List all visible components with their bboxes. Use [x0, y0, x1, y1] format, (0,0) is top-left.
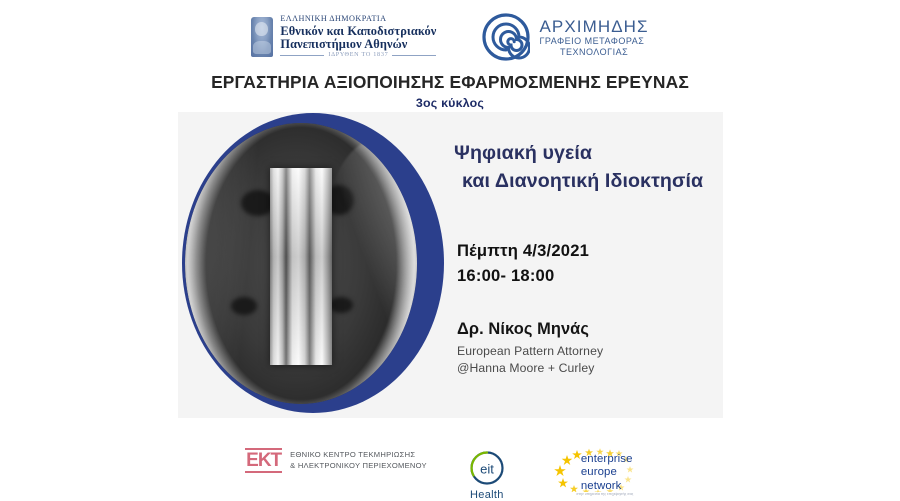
athena-seal-icon [251, 17, 273, 57]
eit-health-logo: eit Health [467, 448, 507, 501]
archimedes-line1: ΑΡΧΙΜΗΔΗΣ [539, 17, 648, 36]
spiral-icon [482, 13, 530, 61]
event-topic-line1: Ψηφιακή υγεία [454, 142, 592, 164]
rule-right [392, 55, 436, 56]
event-topic-line2: και Διανοητική Ιδιοκτησία [462, 168, 703, 196]
event-panel: Ψηφιακή υγεία και Διανοητική Ιδιοκτησία … [178, 112, 723, 418]
uoa-line4: ΙΔΡΥΘΕΝ ΤΟ 1837 [328, 52, 388, 59]
speaker-name: Δρ. Νίκος Μηνάς [457, 320, 603, 339]
archimedes-line2: ΓΡΑΦΕΙΟ ΜΕΤΑΦΟΡΑΣ [539, 36, 648, 46]
photo-content [185, 123, 417, 404]
archimedes-logo-text: ΑΡΧΙΜΗΔΗΣ ΓΡΑΦΕΙΟ ΜΕΤΑΦΟΡΑΣ ΤΕΧΝΟΛΟΓΙΑΣ [539, 17, 648, 57]
speaker-role: European Pattern Attorney [457, 343, 603, 360]
archimedes-logo: ΑΡΧΙΜΗΔΗΣ ΓΡΑΦΕΙΟ ΜΕΤΑΦΟΡΑΣ ΤΕΧΝΟΛΟΓΙΑΣ [482, 13, 648, 61]
series-title: ΕΡΓΑΣΤΗΡΙΑ ΑΞΙΟΠΟΙΗΣΗΣ ΕΦΑΡΜΟΣΜΕΝΗΣ ΕΡΕΥ… [0, 72, 900, 93]
footer-logo-bar: EKT ΕΘΝΙΚΟ ΚΕΝΤΡΟ ΤΕΚΜΗΡΙΩΣΗΣ & ΗΛΕΚΤΡΟΝ… [0, 438, 900, 500]
eit-word: Health [467, 489, 507, 501]
event-speaker: Δρ. Νίκος Μηνάς European Pattern Attorne… [457, 320, 603, 377]
event-time: 16:00- 18:00 [457, 264, 589, 289]
archimedes-line3: ΤΕΧΝΟΛΟΓΙΑΣ [539, 47, 648, 57]
speaker-org: @Hanna Moore + Curley [457, 360, 603, 377]
een-line2: europe [581, 466, 633, 479]
circular-industrial-photo [176, 112, 444, 418]
rule-left [280, 55, 324, 56]
uoa-line1: ΕΛΛΗΝΙΚΗ ΔΗΜΟΚΡΑΤΙΑ [280, 15, 436, 24]
ekt-logo-text: ΕΘΝΙΚΟ ΚΕΝΤΡΟ ΤΕΚΜΗΡΙΩΣΗΣ & ΗΛΕΚΤΡΟΝΙΚΟΥ… [290, 450, 427, 471]
ekt-line2: & ΗΛΕΚΤΡΟΝΙΚΟΥ ΠΕΡΙΕΧΟΜΕΝΟΥ [290, 461, 427, 471]
uoa-logo: ΕΛΛΗΝΙΚΗ ΔΗΜΟΚΡΑΤΙΑ Εθνικόν και Καποδιστ… [251, 15, 436, 59]
event-datetime: Πέμπτη 4/3/2021 16:00- 18:00 [457, 239, 589, 288]
enterprise-europe-network-logo: enterprise europe network στην υπηρεσία … [547, 448, 655, 500]
title-block: ΕΡΓΑΣΤΗΡΙΑ ΑΞΙΟΠΟΙΗΣΗΣ ΕΦΑΡΜΟΣΜΕΝΗΣ ΕΡΕΥ… [0, 72, 900, 110]
panel-text-column: Ψηφιακή υγεία και Διανοητική Ιδιοκτησία … [454, 112, 722, 418]
een-line1: enterprise [581, 453, 633, 466]
uoa-line3: Πανεπιστήμιον Αθηνών [280, 38, 436, 51]
een-wordmark: enterprise europe network [581, 453, 633, 493]
header-logo-bar: ΕΛΛΗΝΙΚΗ ΔΗΜΟΚΡΑΤΙΑ Εθνικόν και Καποδιστ… [0, 6, 900, 68]
eit-circle-icon: eit [467, 448, 507, 488]
series-cycle: 3ος κύκλος [0, 96, 900, 110]
ekt-line1: ΕΘΝΙΚΟ ΚΕΝΤΡΟ ΤΕΚΜΗΡΙΩΣΗΣ [290, 450, 427, 460]
eit-mark: eit [480, 462, 494, 477]
uoa-line4-row: ΙΔΡΥΘΕΝ ΤΟ 1837 [280, 52, 436, 59]
een-tagline: στην υπηρεσία της επιχείρησής σας [555, 492, 655, 496]
photo-highlight [320, 140, 417, 387]
uoa-logo-text: ΕΛΛΗΝΙΚΗ ΔΗΜΟΚΡΑΤΙΑ Εθνικόν και Καποδιστ… [280, 15, 436, 59]
photo-texture [231, 297, 257, 315]
event-topic: Ψηφιακή υγεία και Διανοητική Ιδιοκτησία [454, 140, 703, 196]
event-date: Πέμπτη 4/3/2021 [457, 239, 589, 264]
ekt-mark: EKT [245, 448, 282, 473]
photo-ring-border [182, 113, 444, 413]
ekt-logo: EKT ΕΘΝΙΚΟ ΚΕΝΤΡΟ ΤΕΚΜΗΡΙΩΣΗΣ & ΗΛΕΚΤΡΟΝ… [245, 448, 427, 473]
uoa-line2: Εθνικόν και Καποδιστριακόν [280, 25, 436, 38]
